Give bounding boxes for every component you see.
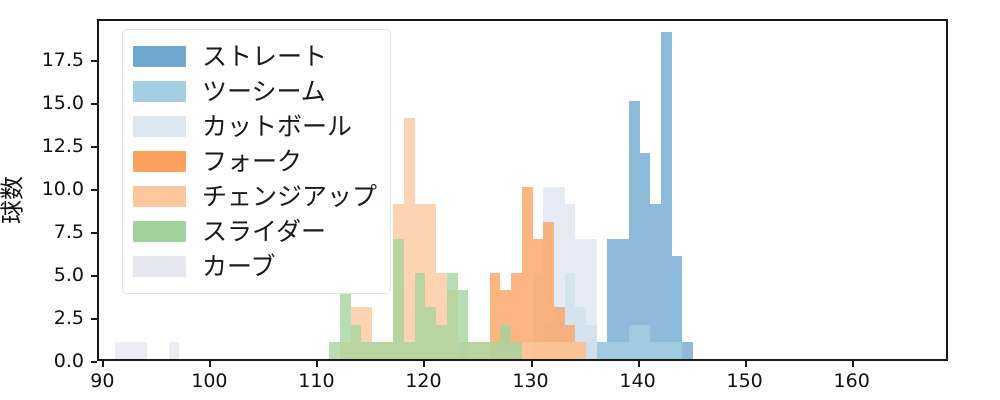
x-tick-mark [531,361,533,367]
histogram-bar [618,342,629,359]
legend-item[interactable]: ツーシーム [133,74,377,109]
histogram-bar [436,325,447,359]
histogram-bar [554,342,565,359]
histogram-bar [607,342,618,359]
histogram-bar [575,342,586,359]
histogram-bar [458,290,469,359]
histogram-bar [640,325,651,359]
x-tick-label: 140 [619,370,655,392]
legend-label: スライダー [202,219,326,244]
y-tick-label: 7.5 [32,221,84,243]
y-tick-label: 15.0 [32,92,84,114]
x-tick-label: 100 [191,370,227,392]
y-tick-label: 2.5 [32,307,84,329]
histogram-bar [682,342,693,359]
x-tick-mark [638,361,640,367]
histogram-bar [329,342,340,359]
legend-swatch [133,151,186,172]
histogram-bar [361,342,372,359]
histogram-bar [586,239,597,359]
histogram-bar [661,32,672,359]
x-tick-label: 120 [405,370,441,392]
histogram-bar [500,325,511,359]
histogram-bar [447,273,458,359]
x-tick-label: 150 [726,370,762,392]
x-tick-mark [852,361,854,367]
histogram-bar [650,204,661,359]
histogram-bar [393,239,404,359]
chart-root: 球数 0.02.55.07.510.012.515.017.5 90100110… [0,0,1000,400]
legend-item[interactable]: カーブ [133,249,377,284]
legend-swatch [133,81,186,102]
legend-label: ツーシーム [202,79,326,104]
histogram-bar [650,342,661,359]
legend-label: カーブ [202,254,276,279]
histogram-bar [629,101,640,359]
x-tick-mark [423,361,425,367]
y-tick-label: 5.0 [32,264,84,286]
histogram-bar [543,342,554,359]
legend-label: カットボール [202,114,352,139]
histogram-bar [490,342,501,359]
legend: ストレートツーシームカットボールフォークチェンジアップスライダーカーブ [122,29,391,294]
y-tick-label: 10.0 [32,178,84,200]
histogram-bar [115,342,126,359]
legend-label: ストレート [202,44,327,69]
histogram-bar [661,342,672,359]
x-tick-mark [745,361,747,367]
y-tick-mark [91,361,97,363]
y-tick-label: 12.5 [32,135,84,157]
x-tick-label: 130 [512,370,548,392]
histogram-bar [351,325,362,359]
x-tick-label: 90 [90,370,114,392]
histogram-bar [672,342,683,359]
histogram-bar [340,290,351,359]
histogram-bar [468,342,479,359]
histogram-bar [629,325,640,359]
histogram-bar [169,342,180,359]
x-tick-label: 160 [834,370,870,392]
histogram-bar [415,273,426,359]
histogram-bar [597,342,608,359]
x-tick-mark [102,361,104,367]
y-tick-label: 0.0 [32,350,84,372]
legend-item[interactable]: ストレート [133,39,377,74]
legend-label: フォーク [202,149,302,174]
histogram-bar [404,342,415,359]
legend-swatch [133,46,186,67]
histogram-bar [511,342,522,359]
histogram-bar [479,342,490,359]
histogram-bar [522,342,533,359]
legend-item[interactable]: スライダー [133,214,377,249]
legend-item[interactable]: チェンジアップ [133,179,377,214]
x-tick-mark [316,361,318,367]
x-tick-mark [209,361,211,367]
histogram-bar [372,342,383,359]
histogram-bar [126,342,137,359]
legend-swatch [133,116,186,137]
histogram-bar [533,342,544,359]
legend-swatch [133,256,186,277]
histogram-bar [543,222,554,359]
histogram-bar [136,342,147,359]
legend-label: チェンジアップ [202,184,377,209]
legend-item[interactable]: カットボール [133,109,377,144]
x-tick-label: 110 [298,370,334,392]
histogram-bar [404,118,415,359]
legend-swatch [133,221,186,242]
legend-item[interactable]: フォーク [133,144,377,179]
legend-swatch [133,186,186,207]
y-tick-label: 17.5 [32,49,84,71]
histogram-bar [565,342,576,359]
histogram-bar [383,342,394,359]
histogram-bar [425,307,436,359]
y-axis-label: 球数 [0,176,28,224]
histogram-bar [522,187,533,359]
